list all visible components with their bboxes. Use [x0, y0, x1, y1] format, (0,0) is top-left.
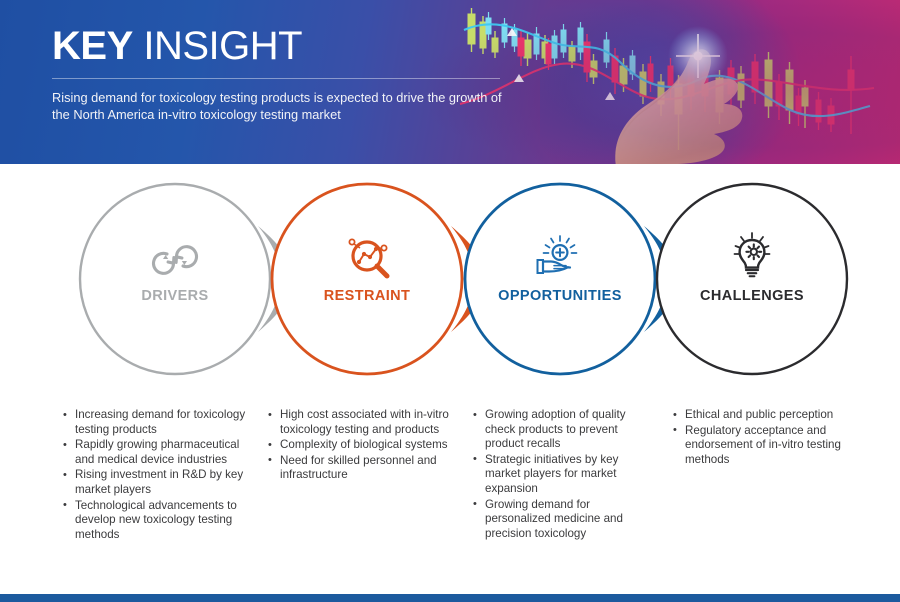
bottom-accent-bar — [0, 594, 900, 602]
list-item: Rising investment in R&D by key market p… — [62, 468, 252, 497]
list-item: Rapidly growing pharmaceutical and medic… — [62, 438, 252, 467]
list-item: Strategic initiatives by key market play… — [472, 453, 657, 497]
header-subtitle: Rising demand for toxicology testing pro… — [52, 89, 522, 123]
list-item: Complexity of biological systems — [267, 438, 452, 453]
list-item: Regulatory acceptance and endorsement of… — [672, 424, 852, 468]
infographic-page: KEY INSIGHT Rising demand for toxicology… — [0, 0, 900, 602]
title-divider — [52, 78, 500, 79]
list-item: Growing demand for personalized medicine… — [472, 498, 657, 542]
circle-label-challenges[interactable]: CHALLENGES — [652, 288, 852, 304]
bullet-column-restraint: High cost associated with in-vitro toxic… — [267, 408, 452, 484]
stage-circles-graphic — [0, 164, 900, 394]
circle-restraint — [272, 184, 462, 374]
bullet-list-restraint: High cost associated with in-vitro toxic… — [267, 408, 452, 483]
circle-label-restraint[interactable]: RESTRAINT — [267, 288, 467, 304]
circle-challenges — [657, 184, 847, 374]
circle-label-opportunities[interactable]: OPPORTUNITIES — [460, 288, 660, 304]
circle-opportunities — [465, 184, 655, 374]
header-text-block: KEY INSIGHT Rising demand for toxicology… — [52, 22, 522, 123]
title-light-part: INSIGHT — [143, 24, 302, 68]
bullet-list-opportunities: Growing adoption of quality check produc… — [472, 408, 657, 541]
list-item: Ethical and public perception — [672, 408, 852, 423]
list-item: Need for skilled personnel and infrastru… — [267, 454, 452, 483]
title-bold-part: KEY — [52, 24, 133, 68]
list-item: High cost associated with in-vitro toxic… — [267, 408, 452, 437]
list-item: Technological advancements to develop ne… — [62, 499, 252, 543]
bullet-column-opportunities: Growing adoption of quality check produc… — [472, 408, 657, 542]
header-banner: KEY INSIGHT Rising demand for toxicology… — [0, 0, 900, 164]
bullet-column-drivers: Increasing demand for toxicology testing… — [62, 408, 252, 543]
bullet-columns: Increasing demand for toxicology testing… — [0, 408, 900, 578]
bullet-column-challenges: Ethical and public perception Regulatory… — [672, 408, 852, 468]
list-item: Growing adoption of quality check produc… — [472, 408, 657, 452]
stage-circles-row: DRIVERS RESTRAINT OPPORTUNITIES CHALLENG… — [0, 164, 900, 394]
circle-drivers — [80, 184, 270, 374]
bullet-list-drivers: Increasing demand for toxicology testing… — [62, 408, 252, 542]
list-item: Increasing demand for toxicology testing… — [62, 408, 252, 437]
bullet-list-challenges: Ethical and public perception Regulatory… — [672, 408, 852, 467]
circle-label-drivers[interactable]: DRIVERS — [75, 288, 275, 304]
page-title: KEY INSIGHT — [52, 22, 522, 70]
